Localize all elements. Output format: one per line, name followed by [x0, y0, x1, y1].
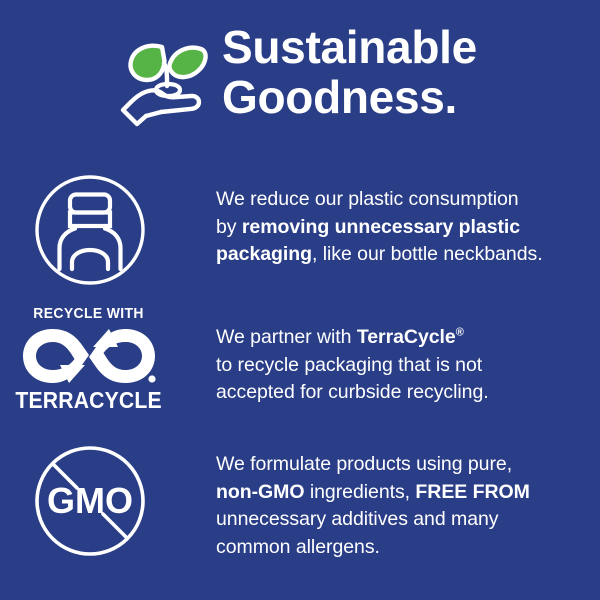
feature-line: by removing unnecessary plastic [216, 214, 586, 242]
feature-text-terracycle: We partner with TerraCycle®to recycle pa… [166, 306, 600, 407]
feature-row-plastic: We reduce our plastic consumptionby remo… [0, 174, 600, 286]
body-text: We partner with [216, 326, 357, 348]
emphasis-text: TerraCycle [357, 326, 456, 348]
feature-line: unnecessary additives and many [216, 506, 586, 534]
page-title: Sustainable Goodness. [222, 22, 477, 122]
emphasis-text: FREE FROM [415, 481, 529, 503]
terracycle-top-text: RECYCLE WITH [34, 306, 145, 322]
feature-row-terracycle: RECYCLE WITH [0, 306, 600, 412]
plastic-bottle-neckband-icon [34, 174, 146, 286]
feature-line: common allergens. [216, 534, 586, 562]
feature-line: We formulate products using pure, [216, 451, 586, 479]
feature-line: We reduce our plastic consumption [216, 186, 586, 214]
body-text: accepted for curbside recycling. [216, 381, 489, 403]
feature-line: non-GMO ingredients, FREE FROM [216, 479, 586, 507]
headline-line-2: Goodness. [222, 72, 477, 122]
gmo-label: GMO [47, 480, 133, 521]
feature-text-gmo: We formulate products using pure,non-GMO… [166, 445, 600, 561]
body-text: ingredients, [304, 481, 415, 503]
no-gmo-icon: GMO [34, 445, 146, 557]
body-text: unnecessary additives and many [216, 508, 499, 530]
body-text: We formulate products using pure, [216, 453, 512, 475]
feature-text-plastic: We reduce our plastic consumptionby remo… [166, 174, 600, 269]
terracycle-bottom-text: TERRACYCLE [16, 388, 162, 412]
feature-icon-cell: RECYCLE WITH [0, 306, 166, 412]
body-text: We reduce our plastic consumption [216, 188, 519, 210]
feature-line: We partner with TerraCycle® [216, 324, 586, 352]
sustainable-goodness-poster: Sustainable Goodness. We reduce our plas… [0, 0, 600, 600]
recycle-infinity-loop-icon [19, 325, 159, 387]
emphasis-text: packaging [216, 243, 312, 265]
feature-line: to recycle packaging that is not [216, 352, 586, 380]
feature-line: accepted for curbside recycling. [216, 379, 586, 407]
poster-header: Sustainable Goodness. [0, 22, 600, 130]
body-text: common allergens. [216, 536, 380, 558]
hand-holding-sprout-icon [118, 30, 218, 130]
emphasis-text: non-GMO [216, 481, 304, 503]
body-text: to recycle packaging that is not [216, 354, 482, 376]
headline-line-1: Sustainable [222, 22, 477, 72]
terracycle-logo: RECYCLE WITH [19, 306, 159, 412]
feature-row-gmo: GMO We formulate products using pure,non… [0, 445, 600, 561]
body-text: , like our bottle neckbands. [312, 243, 543, 265]
emphasis-text: removing unnecessary plastic [242, 216, 520, 238]
registered-mark: ® [456, 327, 464, 339]
feature-icon-cell: GMO [0, 445, 166, 557]
feature-icon-cell [0, 174, 166, 286]
body-text: by [216, 216, 242, 238]
feature-line: packaging, like our bottle neckbands. [216, 241, 586, 269]
